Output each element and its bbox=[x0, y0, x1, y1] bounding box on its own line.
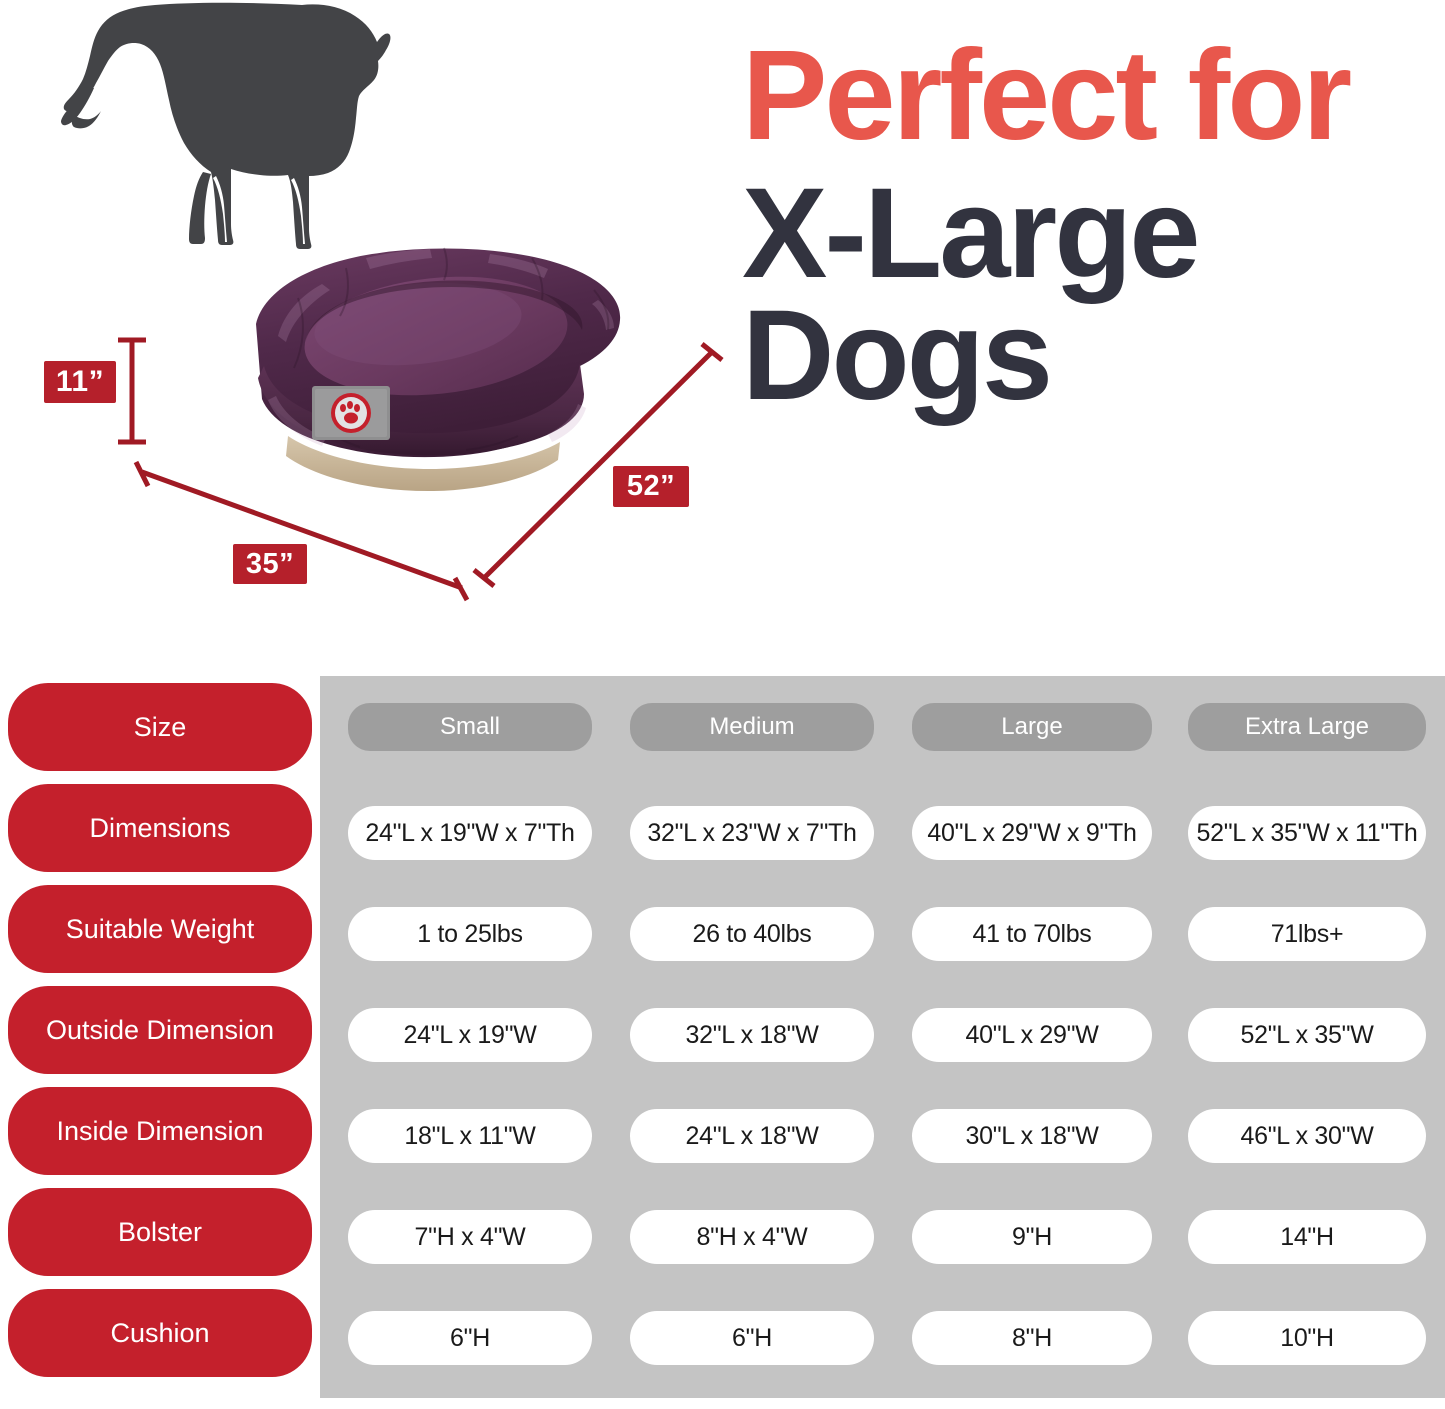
cell-dimensions-small: 24"L x 19"W x 7"Th bbox=[348, 806, 592, 860]
headline-line-2: X-Large bbox=[742, 175, 1442, 293]
column-header-large: Large bbox=[912, 703, 1152, 751]
cell-cushion-large: 8"H bbox=[912, 1311, 1152, 1365]
cell-dimensions-medium: 32"L x 23"W x 7"Th bbox=[630, 806, 874, 860]
row-label-bolster: Bolster bbox=[8, 1188, 312, 1276]
cell-weight-small: 1 to 25lbs bbox=[348, 907, 592, 961]
row-label-cushion: Cushion bbox=[8, 1289, 312, 1377]
dimension-callout-width: 35” bbox=[233, 544, 307, 584]
row-label-column: Size Dimensions Suitable Weight Outside … bbox=[8, 676, 312, 1398]
column-header-extra-large: Extra Large bbox=[1188, 703, 1426, 751]
row-label-suitable-weight: Suitable Weight bbox=[8, 885, 312, 973]
row-label-dimensions: Dimensions bbox=[8, 784, 312, 872]
headline-line-1: Perfect for bbox=[742, 38, 1442, 153]
cell-dimensions-large: 40"L x 29"W x 9"Th bbox=[912, 806, 1152, 860]
cell-weight-large: 41 to 70lbs bbox=[912, 907, 1152, 961]
cell-bolster-extra-large: 14"H bbox=[1188, 1210, 1426, 1264]
cell-cushion-medium: 6"H bbox=[630, 1311, 874, 1365]
row-label-size: Size bbox=[8, 683, 312, 771]
headline-line-3: Dogs bbox=[742, 297, 1442, 415]
cell-inside-small: 18"L x 11"W bbox=[348, 1109, 592, 1163]
cell-outside-large: 40"L x 29"W bbox=[912, 1008, 1152, 1062]
cell-inside-extra-large: 46"L x 30"W bbox=[1188, 1109, 1426, 1163]
dog-bed-product-image bbox=[160, 228, 660, 533]
hero-section: 11” 35” 52” Perfect for X-Large Dogs bbox=[0, 0, 1445, 655]
dimension-callout-height: 11” bbox=[44, 361, 116, 403]
cell-bolster-small: 7"H x 4"W bbox=[348, 1210, 592, 1264]
cell-weight-extra-large: 71lbs+ bbox=[1188, 907, 1426, 961]
column-header-medium: Medium bbox=[630, 703, 874, 751]
cell-bolster-large: 9"H bbox=[912, 1210, 1152, 1264]
cell-inside-medium: 24"L x 18"W bbox=[630, 1109, 874, 1163]
column-header-small: Small bbox=[348, 703, 592, 751]
row-label-outside-dimension: Outside Dimension bbox=[8, 986, 312, 1074]
cell-outside-extra-large: 52"L x 35"W bbox=[1188, 1008, 1426, 1062]
cell-weight-medium: 26 to 40lbs bbox=[630, 907, 874, 961]
dimension-callout-length: 52” bbox=[613, 466, 689, 507]
row-label-inside-dimension: Inside Dimension bbox=[8, 1087, 312, 1175]
cell-cushion-extra-large: 10"H bbox=[1188, 1311, 1426, 1365]
cell-inside-large: 30"L x 18"W bbox=[912, 1109, 1152, 1163]
cell-outside-medium: 32"L x 18"W bbox=[630, 1008, 874, 1062]
brand-tag bbox=[312, 386, 390, 440]
cell-bolster-medium: 8"H x 4"W bbox=[630, 1210, 874, 1264]
cell-outside-small: 24"L x 19"W bbox=[348, 1008, 592, 1062]
specification-table: Size Dimensions Suitable Weight Outside … bbox=[0, 655, 1445, 1409]
cell-dimensions-extra-large: 52"L x 35"W x 11"Th bbox=[1188, 806, 1426, 860]
cell-cushion-small: 6"H bbox=[348, 1311, 592, 1365]
hero-headline: Perfect for X-Large Dogs bbox=[742, 38, 1442, 415]
